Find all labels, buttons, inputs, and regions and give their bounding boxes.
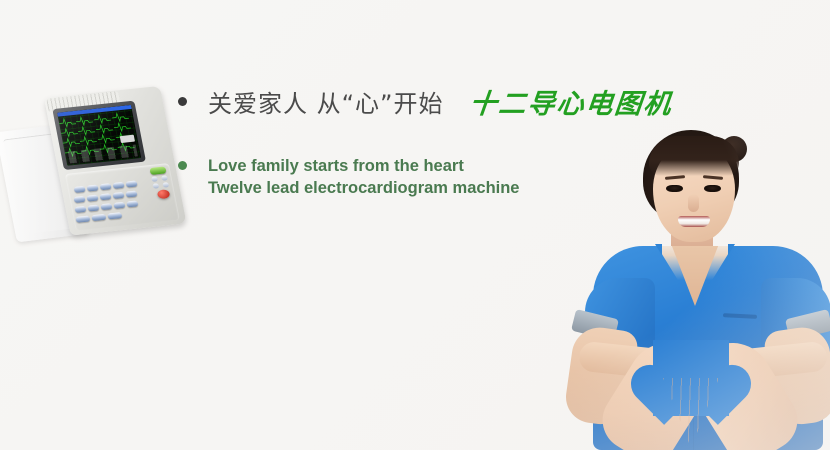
nurse-photo: [545, 128, 830, 450]
ecg-key[interactable]: [100, 183, 112, 190]
ecg-key[interactable]: [87, 185, 99, 192]
nose: [688, 194, 699, 212]
ecg-start-button[interactable]: [149, 166, 166, 175]
ecg-screen-bezel: [52, 101, 146, 170]
ecg-key[interactable]: [99, 193, 111, 200]
ecg-key[interactable]: [75, 215, 90, 222]
smiling-mouth: [678, 216, 710, 227]
ecg-device-body: ECG-1200G: [44, 86, 187, 236]
ecg-nav-key[interactable]: [151, 176, 158, 182]
ecg-key[interactable]: [91, 214, 106, 221]
eye-right: [704, 185, 721, 192]
eye-left: [666, 185, 683, 192]
headline-cn: 关爱家人 从“心”开始: [208, 84, 444, 119]
ecg-screen-logo: [120, 135, 135, 143]
ecg-key[interactable]: [86, 195, 98, 202]
ecg-key[interactable]: [112, 192, 124, 199]
ecg-nav-key[interactable]: [161, 175, 168, 181]
ecg-key[interactable]: [107, 212, 122, 219]
product-name-cn: 十二导心电图机: [467, 82, 674, 121]
ecg-navigation-keys[interactable]: [151, 175, 169, 188]
ecg-key[interactable]: [87, 205, 99, 212]
tagline-en-line2: Twelve lead electrocardiogram machine: [208, 179, 520, 197]
ecg-key[interactable]: [74, 186, 86, 193]
bullet-dot-icon: [178, 161, 187, 170]
bullet-dot-icon: [178, 97, 187, 106]
ecg-key[interactable]: [125, 191, 137, 198]
ecg-machine-figure: ECG-1200G: [2, 92, 174, 242]
ecg-key[interactable]: [100, 203, 112, 210]
ecg-key[interactable]: [113, 182, 125, 189]
ecg-nav-key[interactable]: [152, 183, 159, 189]
promo-banner: ECG-1200G: [0, 0, 830, 450]
ecg-waveform-display: [57, 105, 141, 166]
ecg-key[interactable]: [113, 202, 125, 209]
ecg-key[interactable]: [126, 200, 138, 207]
ecg-nav-key[interactable]: [162, 182, 169, 188]
ecg-keypad[interactable]: [65, 163, 180, 231]
ecg-stop-button[interactable]: [157, 189, 171, 199]
ecg-key[interactable]: [125, 180, 137, 187]
hair-fringe: [649, 136, 739, 176]
tagline-en-line1: Love family starts from the heart: [208, 157, 464, 175]
ecg-key[interactable]: [73, 196, 85, 203]
headline-row: 关爱家人 从“心”开始 十二导心电图机: [178, 82, 698, 120]
tagline-en: Love family starts from the heart Twelve…: [208, 155, 520, 199]
ecg-key[interactable]: [74, 206, 86, 213]
